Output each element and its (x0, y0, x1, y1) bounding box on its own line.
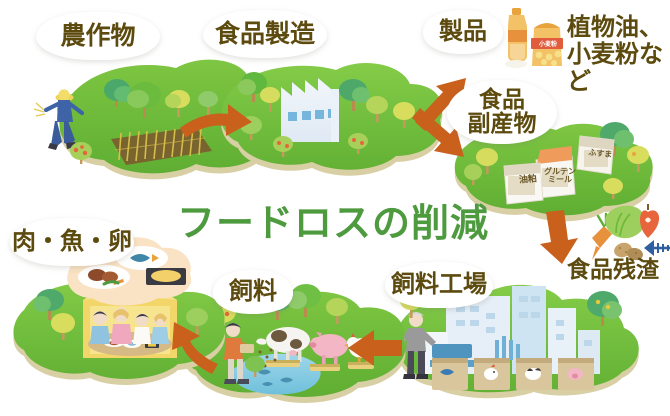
family-member-2 (111, 308, 132, 345)
fish-pond (232, 354, 321, 395)
cooking-oil-bottle-icon (502, 8, 530, 71)
apple-core-icon (640, 204, 659, 238)
feed-bag-row (432, 358, 594, 390)
pig-figure (310, 332, 348, 366)
label-manufacture-text: 食品製造 (215, 21, 315, 47)
food-loss-cycle-diagram: 油粕 グルテン ミール ふすま 小麦粉 農作物 食品製造 製品 食品 副産物 飼… (0, 0, 670, 416)
arrow-feedfactory-to-feed (348, 330, 402, 366)
feeding-person-figure (224, 323, 277, 384)
worker-figure (396, 312, 436, 379)
byproduct-bag-label-2-line2: ミール (544, 176, 576, 184)
label-byproducts-line2: 副産物 (468, 112, 537, 136)
island-crops (34, 60, 294, 180)
label-feed: 飼料 (213, 270, 293, 314)
label-feedfactory-text: 飼料工場 (391, 272, 487, 297)
factory-building (281, 78, 339, 142)
food-waste-icons (592, 204, 670, 262)
tree-cluster-manufacture (238, 72, 415, 157)
wheat-rows (115, 128, 205, 161)
chicken-figure (344, 333, 375, 364)
flour-bag-label: 小麦粉 (533, 39, 563, 48)
label-feedfactory: 飼料工場 (385, 262, 493, 308)
family-member-1 (90, 311, 110, 344)
cabbage-leaf-icon (605, 206, 645, 239)
annotation-food-waste: 食品残渣 (567, 258, 659, 284)
farmer-figure (34, 89, 82, 150)
byproduct-bag-label-2: グルテン ミール (544, 168, 576, 190)
annotation-product-detail-line1: 植物油、 (567, 14, 670, 41)
byproduct-bag-label-1: 油粕 (512, 171, 543, 190)
carrot-icon (592, 214, 616, 260)
label-byproducts: 食品 副産物 (447, 80, 557, 144)
label-products: 製品 (423, 10, 503, 54)
annotation-product-detail-line2: 小麦粉など (567, 41, 670, 95)
island-manufacture (221, 63, 442, 176)
family-member-4 (151, 314, 169, 345)
label-manufacture: 食品製造 (203, 10, 327, 58)
label-meatfishegg: 肉・魚・卵 (10, 218, 134, 266)
tree-cluster-crops (70, 79, 218, 164)
label-crops: 農作物 (36, 12, 160, 60)
label-products-text: 製品 (439, 19, 487, 44)
arrow-byproducts-to-waste (540, 210, 578, 264)
label-byproducts-line1: 食品 (479, 88, 525, 112)
label-crops-text: 農作物 (60, 23, 135, 49)
arrow-feed-to-table (172, 322, 218, 374)
label-feed-text: 飼料 (229, 279, 277, 304)
byproduct-bag-label-3: ふすま (585, 147, 615, 166)
cow-figure (256, 327, 310, 363)
tree-cluster-table (33, 289, 208, 340)
family-dining-house (83, 272, 177, 358)
annotation-product-detail: 植物油、 小麦粉など (567, 14, 670, 95)
family-member-3 (133, 314, 151, 344)
fish-bone-icon (644, 240, 670, 256)
label-meatfishegg-text: 肉・魚・卵 (12, 229, 132, 254)
page-title: フードロスの削減 (168, 193, 498, 245)
feed-trough-row (266, 360, 374, 371)
arrow-crops-to-manufacture (180, 104, 252, 138)
